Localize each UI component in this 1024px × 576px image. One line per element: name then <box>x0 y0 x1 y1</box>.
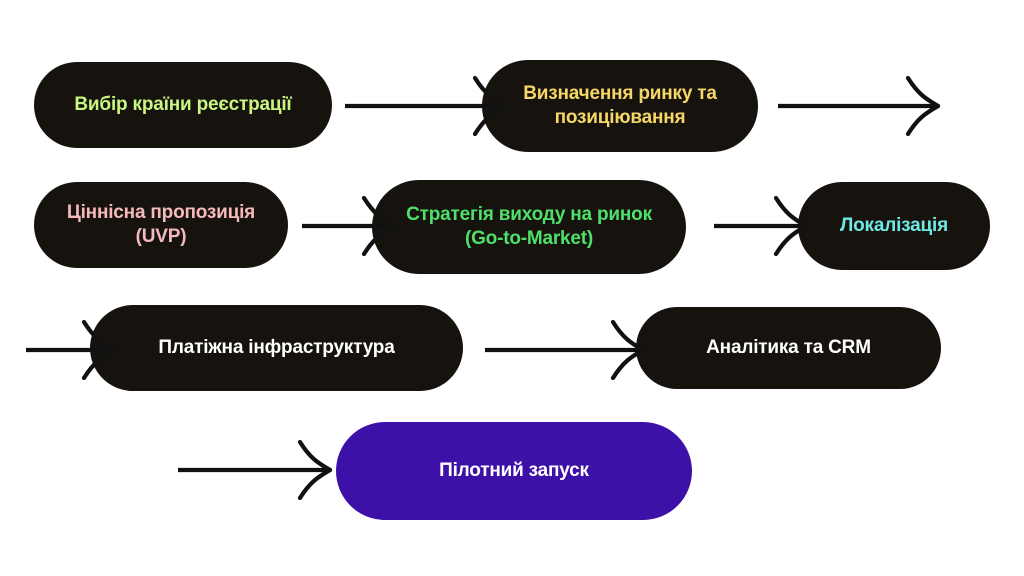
node-label: Визначення ринку та позиціювання <box>523 82 717 129</box>
node-go-to-market[interactable]: Стратегія виходу на ринок (Go-to-Market) <box>372 180 686 274</box>
arrow-wrap-in-to-pilot-launch <box>178 442 336 498</box>
node-payment-infrastructure[interactable]: Платіжна інфраструктура <box>90 305 463 391</box>
node-label: Ціннісна пропозиція (UVP) <box>67 201 255 248</box>
node-pilot-launch[interactable]: Пілотний запуск <box>336 422 692 520</box>
node-localization[interactable]: Локалізація <box>798 182 990 270</box>
arrow-market-wrap-out <box>778 78 944 134</box>
node-label: Вибір країни реєстрації <box>74 93 291 117</box>
diagram-canvas: Вибір країни реєстраціїВизначення ринку … <box>0 0 1024 576</box>
node-label: Стратегія виходу на ринок (Go-to-Market) <box>406 203 652 250</box>
node-analytics-crm[interactable]: Аналітика та CRM <box>636 307 941 389</box>
node-label: Пілотний запуск <box>439 459 589 483</box>
arrow-payment-to-analytics <box>485 322 649 378</box>
node-label: Платіжна інфраструктура <box>158 336 394 360</box>
node-market-definition[interactable]: Визначення ринку та позиціювання <box>482 60 758 152</box>
node-label: Локалізація <box>840 214 948 238</box>
node-country-selection[interactable]: Вибір країни реєстрації <box>34 62 332 148</box>
node-value-proposition[interactable]: Ціннісна пропозиція (UVP) <box>34 182 288 268</box>
node-label: Аналітика та CRM <box>706 336 871 360</box>
